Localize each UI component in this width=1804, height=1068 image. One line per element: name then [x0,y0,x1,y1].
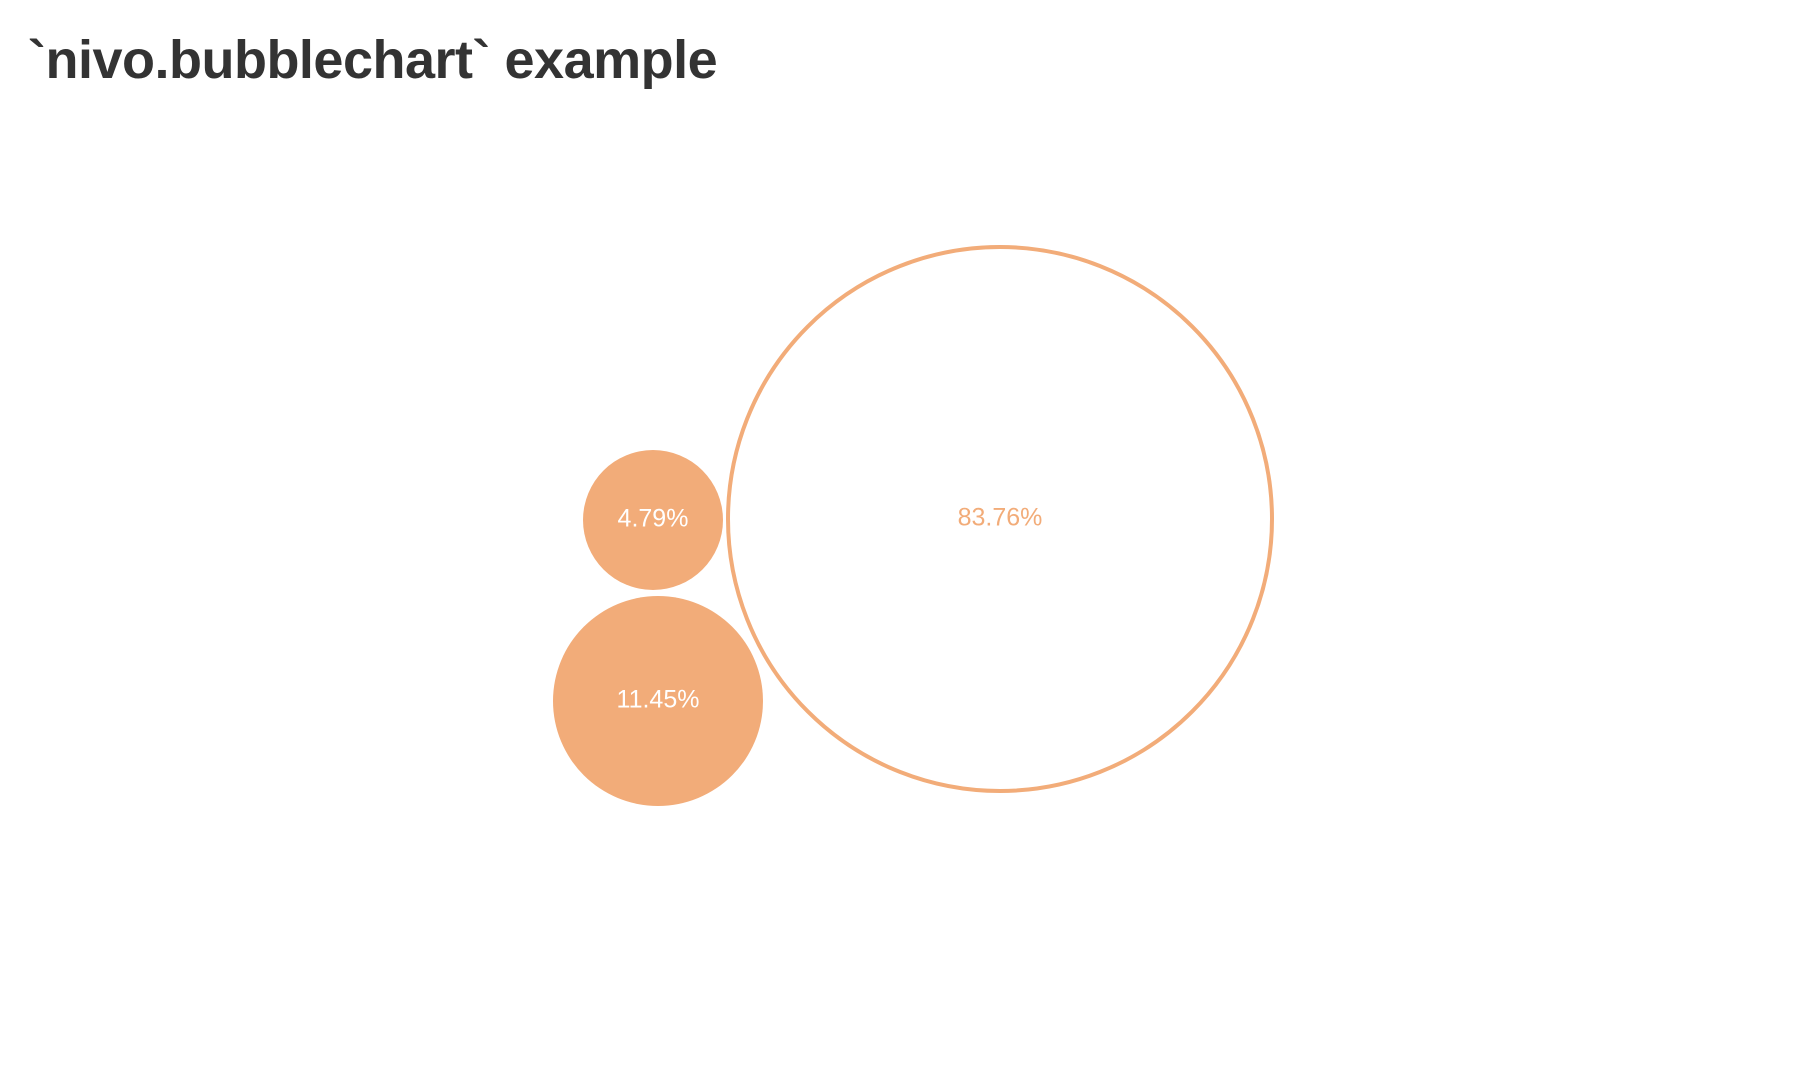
bubble-chart: 83.76%11.45%4.79% [0,0,1804,1068]
bubble-node[interactable]: 4.79% [583,450,723,590]
bubble-label: 11.45% [617,686,700,714]
bubble-node[interactable]: 11.45% [553,596,763,806]
bubble-chart-canvas: 83.76%11.45%4.79% [0,0,1804,1068]
bubble-node-group: 83.76%11.45%4.79% [553,247,1272,806]
bubble-node[interactable]: 83.76% [728,247,1272,791]
bubble-label: 83.76% [958,504,1043,532]
bubble-label: 4.79% [618,505,689,533]
